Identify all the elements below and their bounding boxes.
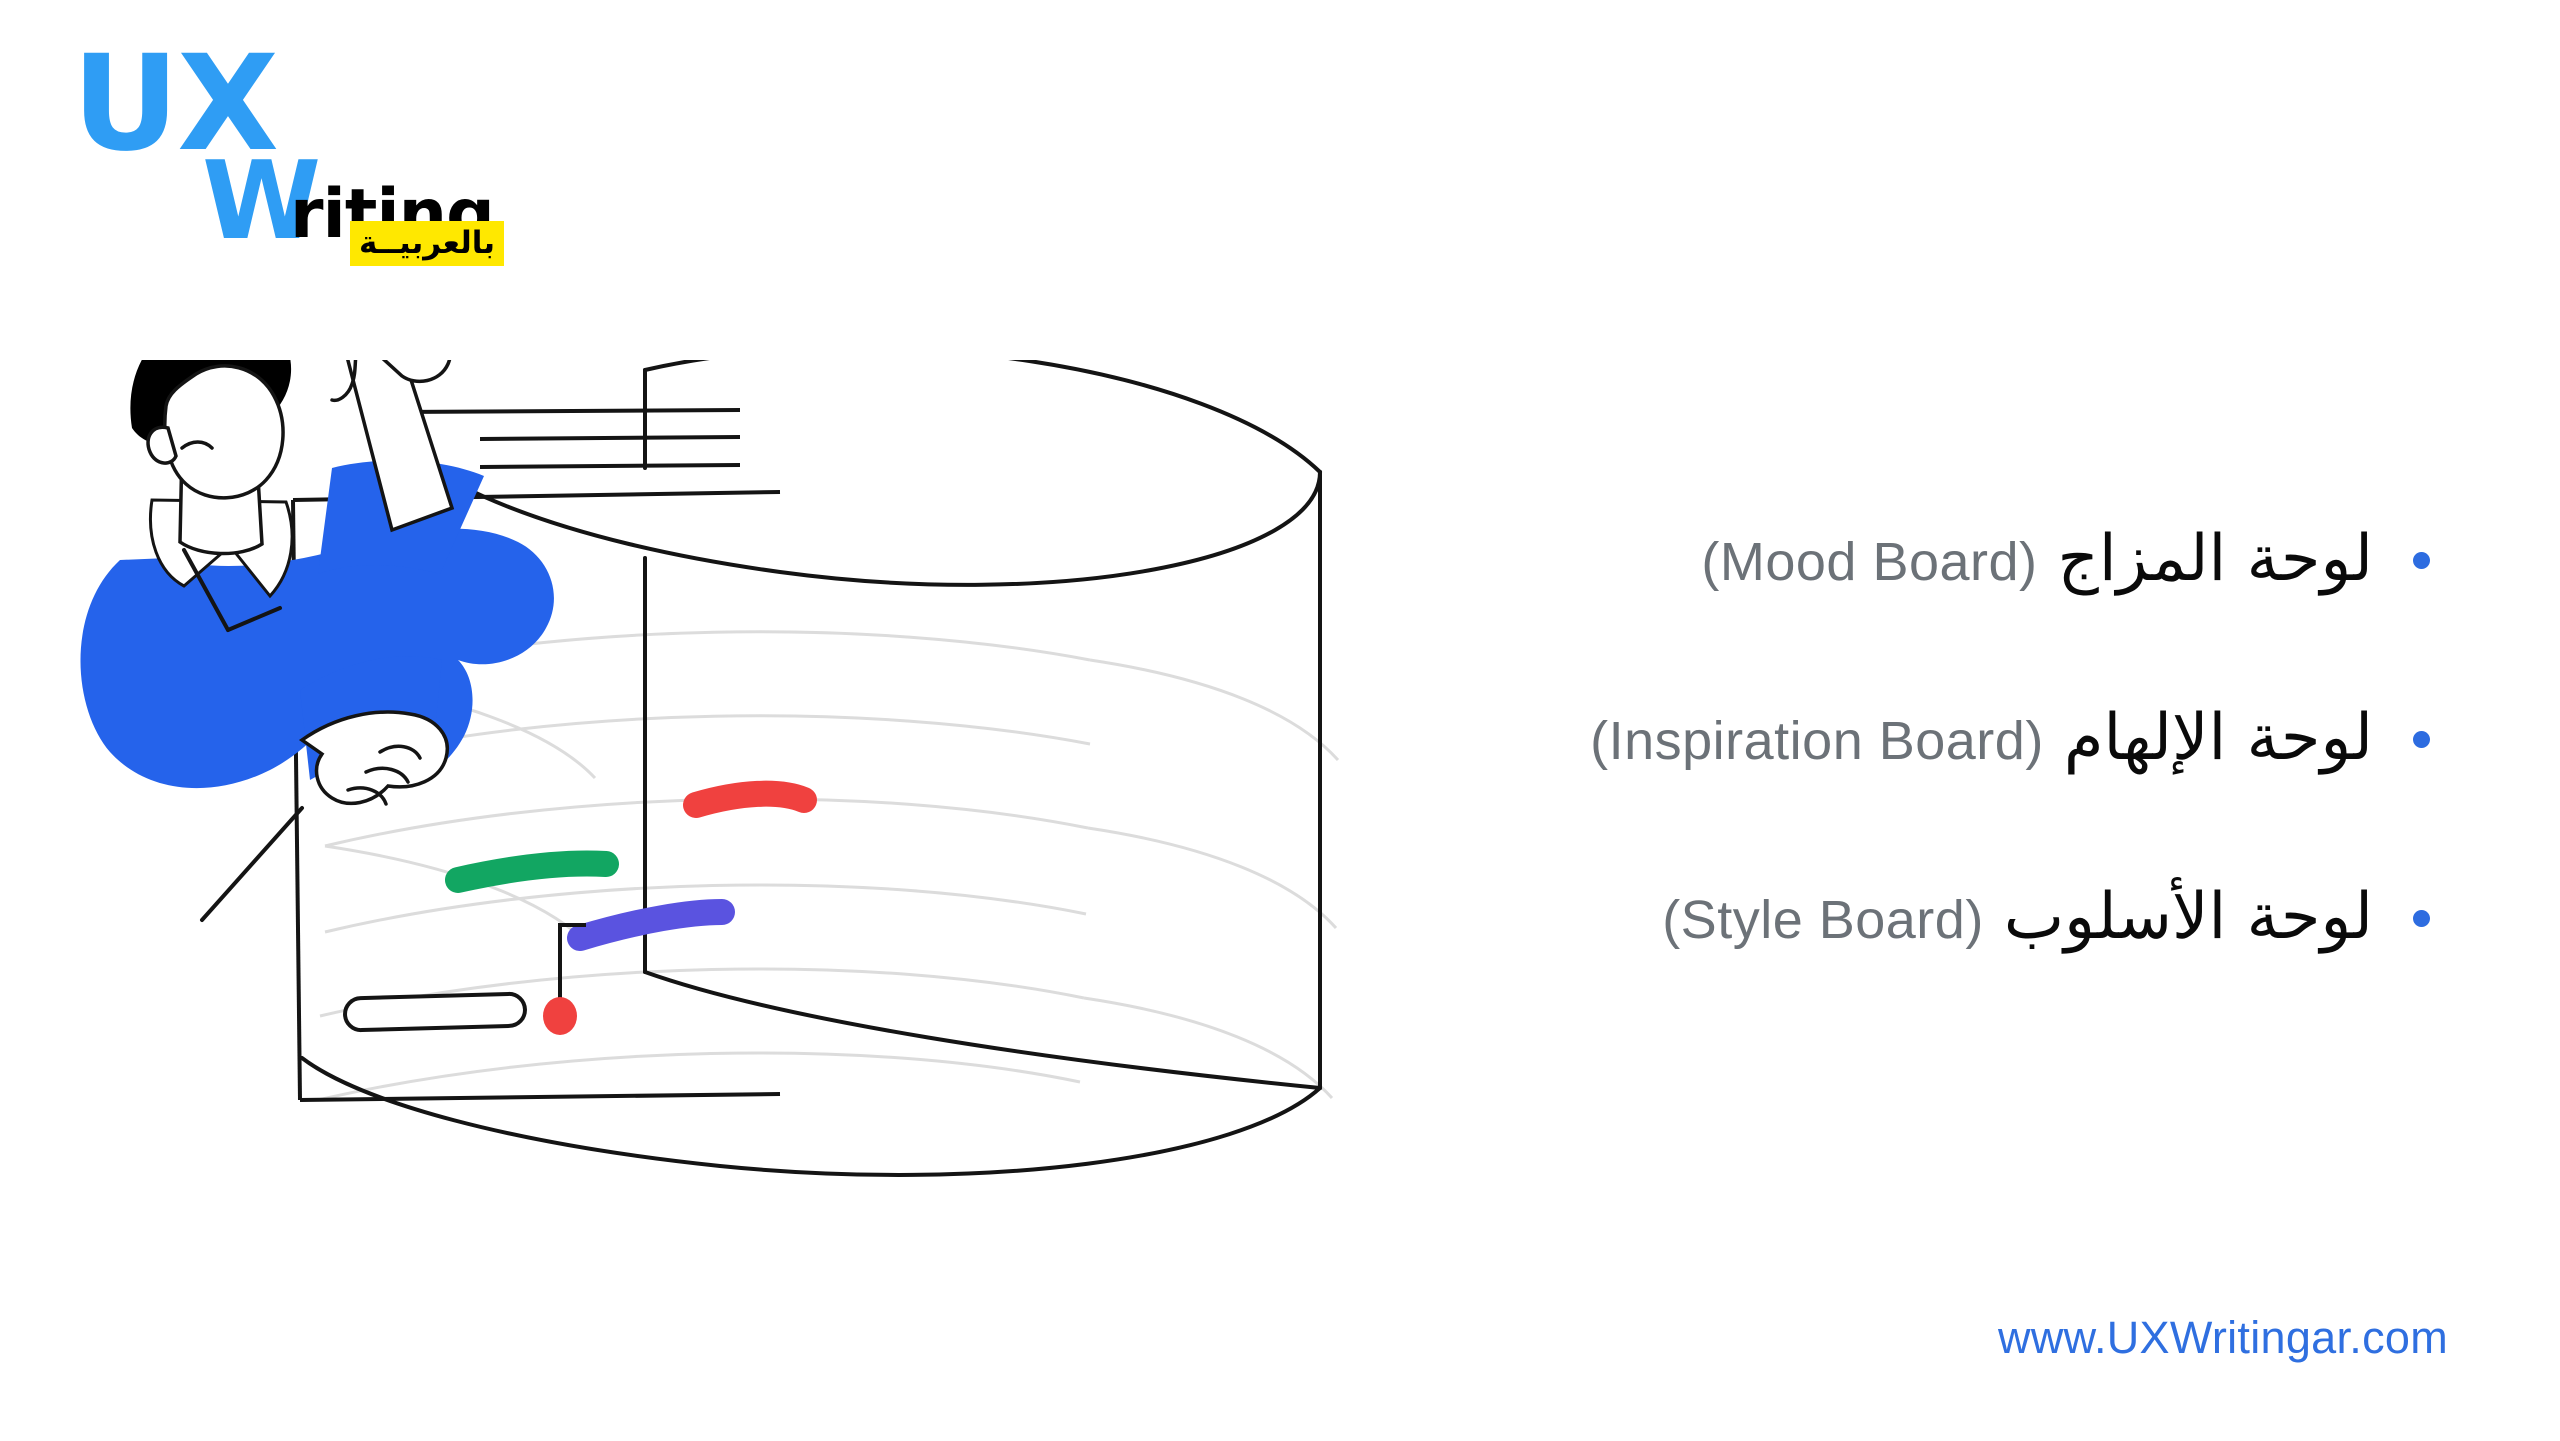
face (165, 366, 283, 498)
rounded-note-outline (345, 993, 526, 1030)
bullet-icon (2413, 731, 2430, 748)
website-url[interactable]: www.UXWritingar.com (1998, 1313, 2448, 1363)
brand-logo[interactable]: UX W riting بالعربيــة (62, 38, 482, 258)
bullet-icon (2413, 552, 2430, 569)
list-item-arabic-label: لوحة الأسلوب (2004, 878, 2373, 956)
header-text-lines (398, 410, 740, 467)
list-item[interactable]: لوحة الأسلوب (Style Board) (1350, 878, 2430, 959)
illustration-svg (80, 360, 1440, 1240)
slide-canvas: UX W riting بالعربيــة (0, 0, 2560, 1441)
bullet-icon (2413, 910, 2430, 927)
list-item-text: لوحة المزاج (Mood Board) (1701, 520, 2373, 601)
red-strip-note (696, 794, 804, 805)
list-item-english-label: (Style Board) (1662, 881, 1984, 959)
list-item-text: لوحة الإلهام (Inspiration Board) (1590, 699, 2373, 780)
list-item-arabic-label: لوحة المزاج (2058, 520, 2373, 598)
green-strip-note (458, 864, 606, 880)
logo-arabic-badge: بالعربيــة (350, 221, 504, 266)
list-item-text: لوحة الأسلوب (Style Board) (1662, 878, 2373, 959)
list-item-english-label: (Inspiration Board) (1590, 702, 2044, 780)
list-item-arabic-label: لوحة الإلهام (2064, 699, 2373, 777)
list-item[interactable]: لوحة الإلهام (Inspiration Board) (1350, 699, 2430, 780)
board-terms-list: لوحة المزاج (Mood Board) لوحة الإلهام (I… (1350, 520, 2430, 959)
list-item-english-label: (Mood Board) (1701, 523, 2037, 601)
purple-strip-note (580, 912, 722, 938)
list-item[interactable]: لوحة المزاج (Mood Board) (1350, 520, 2430, 601)
mood-board-illustration (80, 360, 1440, 1240)
